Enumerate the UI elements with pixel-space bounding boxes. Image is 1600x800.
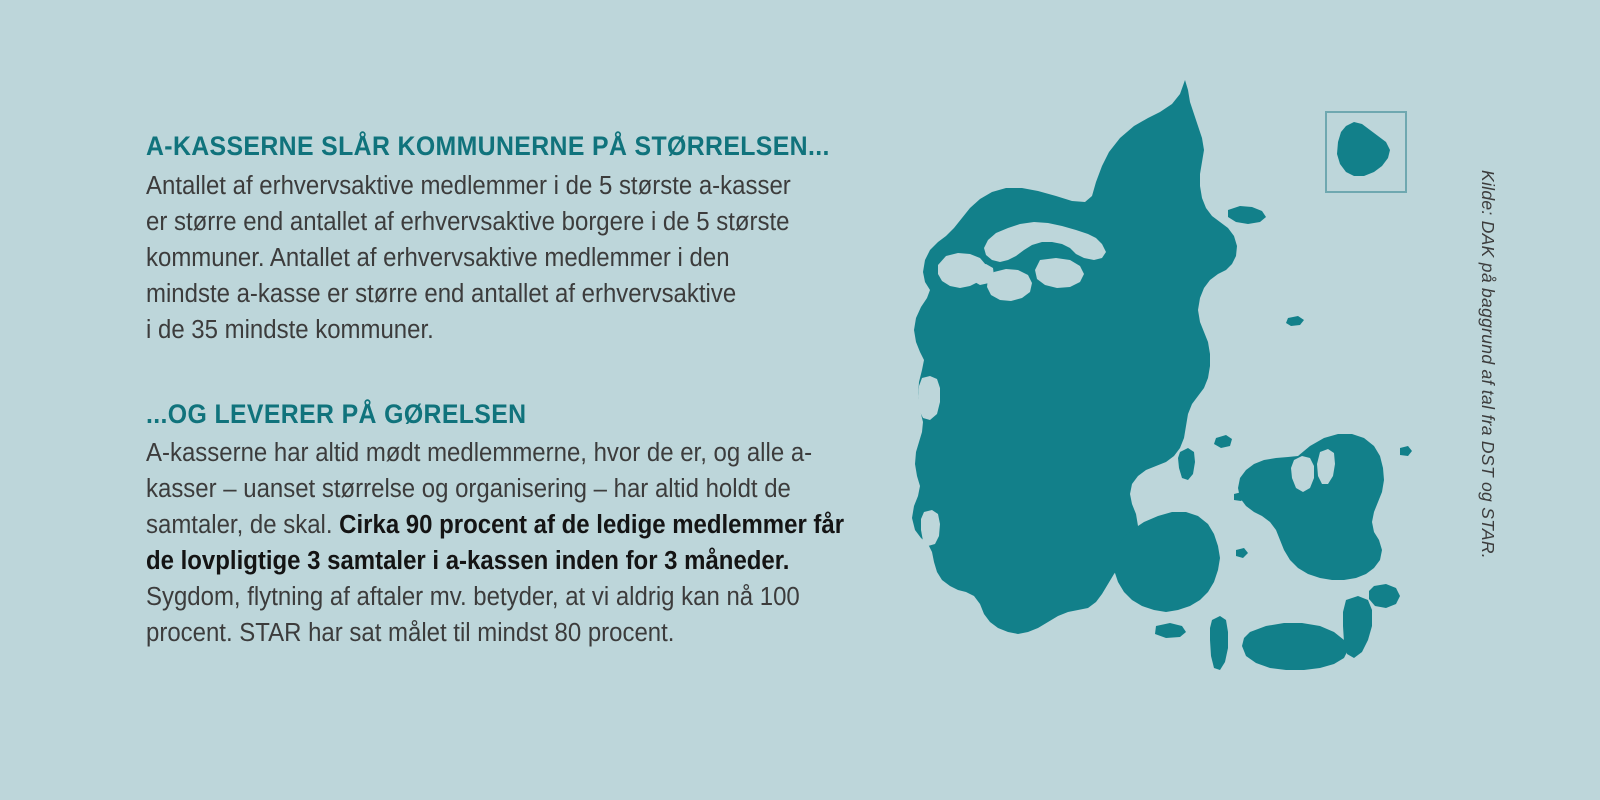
langeland-island <box>1210 616 1228 670</box>
laesoe-island <box>1228 206 1266 224</box>
islet-hesseloe <box>1400 446 1412 456</box>
text-column: A-KASSERNE SLÅR KOMMUNERNE PÅ STØRRELSEN… <box>146 132 906 651</box>
denmark-map <box>880 60 1480 720</box>
denmark-map-svg <box>880 60 1480 720</box>
aeroe-island <box>1155 623 1186 638</box>
anholt-island <box>1286 316 1304 326</box>
ringkoebing-fjord <box>918 376 940 420</box>
source-note: Kilde: DAK på baggrund af tal fra DST og… <box>1477 170 1498 559</box>
section-1-paragraph: Antallet af erhvervsaktive medlemmer i d… <box>146 168 860 348</box>
section-1-heading: A-KASSERNE SLÅR KOMMUNERNE PÅ STØRRELSEN… <box>146 132 845 162</box>
section-2-heading: ...OG LEVERER PÅ GØRELSEN <box>146 400 845 430</box>
section-1-line-3: kommuner. Antallet af erhvervsaktive med… <box>146 244 730 272</box>
section-1-line-2: er større end antallet af erhvervsaktive… <box>146 208 789 236</box>
islet-small-2 <box>1236 548 1248 558</box>
islet-north-fyn <box>1214 435 1232 448</box>
section-2-paragraph: A-kasserne har altid mødt medlemmerne, h… <box>146 435 860 651</box>
section-og-leverer-paa-goerelsen: ...OG LEVERER PÅ GØRELSEN A-kasserne har… <box>146 400 906 652</box>
lolland-island <box>1242 623 1348 670</box>
zealand-island <box>1238 434 1384 580</box>
section-1-line-5: i de 35 mindste kommuner. <box>146 316 434 344</box>
section-2-tail-text: Sygdom, flytning af aftaler mv. betyder,… <box>146 583 800 647</box>
infographic-canvas: A-KASSERNE SLÅR KOMMUNERNE PÅ STØRRELSEN… <box>0 0 1600 800</box>
section-1-line-4: mindste a-kasse er større end antallet a… <box>146 280 736 308</box>
samsoe-island <box>1178 448 1195 480</box>
section-a-kasserne-slaar-kommunerne: A-KASSERNE SLÅR KOMMUNERNE PÅ STØRRELSEN… <box>146 132 906 348</box>
section-1-line-1: Antallet af erhvervsaktive medlemmer i d… <box>146 172 791 200</box>
moen-island <box>1369 584 1400 608</box>
bornholm-island <box>1337 122 1390 176</box>
falster-island <box>1343 596 1372 658</box>
section-spacer <box>146 348 906 400</box>
